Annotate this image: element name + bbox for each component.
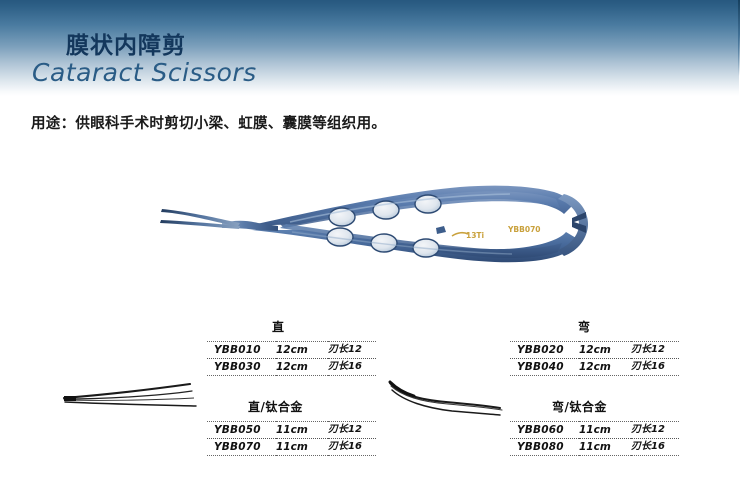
section-title-straight-titanium: 直/钛合金 [248, 398, 303, 415]
cell-code: YBB030 [207, 359, 276, 376]
spec-table-straight-titanium: YBB050 11cm 刃长12 YBB070 11cm 刃长16 [207, 421, 376, 456]
cell-length: 12cm [276, 342, 328, 359]
table-row: YBB070 11cm 刃长16 [207, 439, 376, 456]
spec-table-curved-titanium: YBB060 11cm 刃长12 YBB080 11cm 刃长16 [510, 421, 679, 456]
cell-code: YBB070 [207, 439, 276, 456]
page-title-english: Cataract Scissors [32, 58, 257, 87]
cell-length: 11cm [579, 422, 631, 439]
table-row: YBB060 11cm 刃长12 [510, 422, 679, 439]
cell-length: 12cm [579, 342, 631, 359]
cell-length: 11cm [276, 422, 328, 439]
cell-code: YBB060 [510, 422, 579, 439]
table-row: YBB030 12cm 刃长16 [207, 359, 376, 376]
header-right-edge [738, 0, 740, 76]
cell-blade: 刃长12 [328, 342, 376, 359]
cell-code: YBB050 [207, 422, 276, 439]
section-title-curved-titanium: 弯/钛合金 [552, 398, 607, 415]
engraving-code: YBB070 [507, 225, 541, 234]
cell-blade: 刃长12 [631, 422, 679, 439]
spec-table-straight: YBB010 12cm 刃长12 YBB030 12cm 刃长16 [207, 341, 376, 376]
engraving-brand: 13Ti [466, 231, 484, 240]
cell-blade: 刃长12 [328, 422, 376, 439]
table-row: YBB080 11cm 刃长16 [510, 439, 679, 456]
spec-table-curved: YBB020 12cm 刃长12 YBB040 12cm 刃长16 [510, 341, 679, 376]
table-row: YBB040 12cm 刃长16 [510, 359, 679, 376]
table-row: YBB050 11cm 刃长12 [207, 422, 376, 439]
section-title-curved: 弯 [578, 318, 591, 335]
cell-blade: 刃长16 [631, 439, 679, 456]
product-photo: 13Ti YBB070 [160, 178, 590, 273]
page-title-chinese: 膜状内障剪 [66, 26, 186, 60]
cell-blade: 刃长12 [631, 342, 679, 359]
cell-code: YBB080 [510, 439, 579, 456]
usage-description: 用途：供眼科手术时剪切小梁、虹膜、囊膜等组织用。 [31, 112, 386, 133]
cell-length: 12cm [276, 359, 328, 376]
cell-blade: 刃长16 [631, 359, 679, 376]
curved-blade-diagram [386, 374, 506, 422]
cell-code: YBB010 [207, 342, 276, 359]
section-title-straight: 直 [272, 318, 285, 335]
cell-blade: 刃长16 [328, 359, 376, 376]
cell-length: 12cm [579, 359, 631, 376]
table-row: YBB020 12cm 刃长12 [510, 342, 679, 359]
cell-blade: 刃长16 [328, 439, 376, 456]
cell-code: YBB040 [510, 359, 579, 376]
table-row: YBB010 12cm 刃长12 [207, 342, 376, 359]
cell-code: YBB020 [510, 342, 579, 359]
straight-blade-diagram [62, 382, 202, 420]
cell-length: 11cm [276, 439, 328, 456]
cell-length: 11cm [579, 439, 631, 456]
